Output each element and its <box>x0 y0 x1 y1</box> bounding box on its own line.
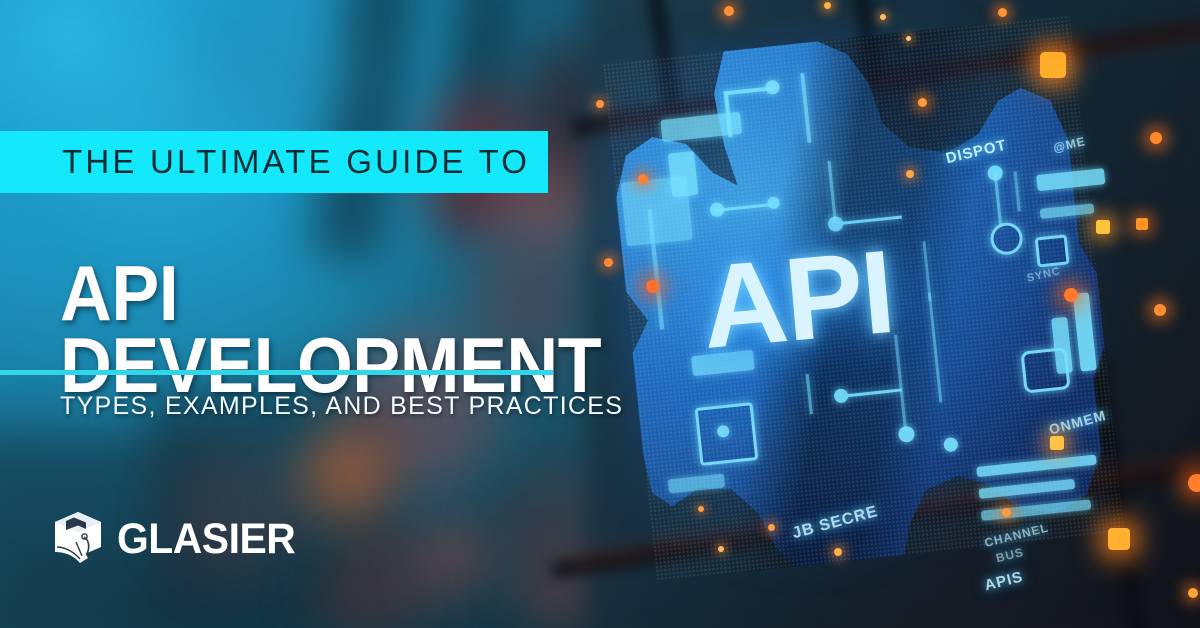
headline-line-2: DEVELOPMENT <box>60 330 630 402</box>
eyebrow-band: THE ULTIMATE GUIDE TO <box>0 131 548 193</box>
brand-logo: GLASIER <box>52 511 305 567</box>
glowing-puzzle-piece: API DISPOT @ME SYNC JB SECRE ONMEM CHANN… <box>602 15 1124 581</box>
divider-rule <box>0 370 553 375</box>
piece-api-text: API <box>697 233 897 367</box>
page-title: API DEVELOPMENT <box>60 258 630 402</box>
brand-name: GLASIER <box>117 515 295 564</box>
eyebrow-text: THE ULTIMATE GUIDE TO <box>62 143 530 181</box>
subheadline: TYPES, EXAMPLES, AND BEST PRACTICES <box>60 392 623 421</box>
cube-in-hand-icon <box>52 511 104 567</box>
puzzle-piece-artwork: API DISPOT @ME SYNC JB SECRE ONMEM CHANN… <box>588 0 1200 628</box>
marketing-banner: API DISPOT @ME SYNC JB SECRE ONMEM CHANN… <box>0 0 1200 628</box>
